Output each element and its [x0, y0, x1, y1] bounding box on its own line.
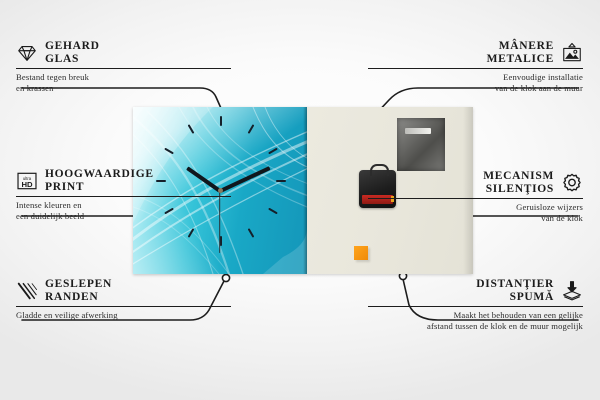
feature-diagram: GEHARD GLAS Bestand tegen breuk en krass…: [0, 0, 600, 400]
callout-manere-metalice: MÂNERE METALICE Eenvoudige installatie v…: [368, 40, 583, 94]
callout-subtitle: Eenvoudige installatie van de klok aan d…: [368, 69, 583, 94]
callout-title: MÂNERE METALICE: [487, 40, 554, 65]
clock-tick: [276, 180, 286, 182]
callout-title: MECANISM SILENŢIOS: [483, 170, 554, 195]
clock-tick: [220, 116, 222, 126]
diagonal-lines-icon: [16, 280, 38, 302]
callout-distantier-spuma: DISTANŢIER SPUMĂ Maakt het behouden van …: [368, 278, 583, 332]
callout-gehard-glas: GEHARD GLAS Bestand tegen breuk en krass…: [16, 40, 231, 94]
gear-icon: [561, 172, 583, 194]
callout-mecanism-silentios: MECANISM SILENŢIOS Geruisloze wijzers va…: [368, 170, 583, 224]
callout-title: GEHARD GLAS: [45, 40, 100, 65]
callout-subtitle: Maakt het behouden van een gelijke afsta…: [368, 307, 583, 332]
picture-frame-hanger-icon: [561, 42, 583, 64]
callout-subtitle: Geruisloze wijzers van de klok: [368, 199, 583, 224]
callout-title: DISTANŢIER SPUMĂ: [476, 278, 554, 303]
callout-hoogwaardige-print: ultra HD HOOGWAARDIGE PRINT Intense kleu…: [16, 168, 231, 222]
metal-hanger-plate: [397, 118, 445, 171]
svg-text:HD: HD: [21, 179, 33, 188]
foam-spacer: [354, 246, 368, 260]
arrow-down-layers-icon: [561, 280, 583, 302]
hanger-slot: [405, 128, 431, 134]
callout-subtitle: Intense kleuren en een duidelijk beeld: [16, 197, 231, 222]
callout-subtitle: Bestand tegen breuk en krassen: [16, 69, 231, 94]
clock-tick: [220, 236, 222, 246]
diamond-icon: [16, 42, 38, 64]
callout-subtitle: Gladde en veilige afwerking: [16, 307, 231, 321]
callout-title: GESLEPEN RANDEN: [45, 278, 112, 303]
ultra-hd-icon: ultra HD: [16, 170, 38, 192]
callout-geslepen-randen: GESLEPEN RANDEN Gladde en veilige afwerk…: [16, 278, 231, 321]
callout-title: HOOGWAARDIGE PRINT: [45, 168, 154, 193]
